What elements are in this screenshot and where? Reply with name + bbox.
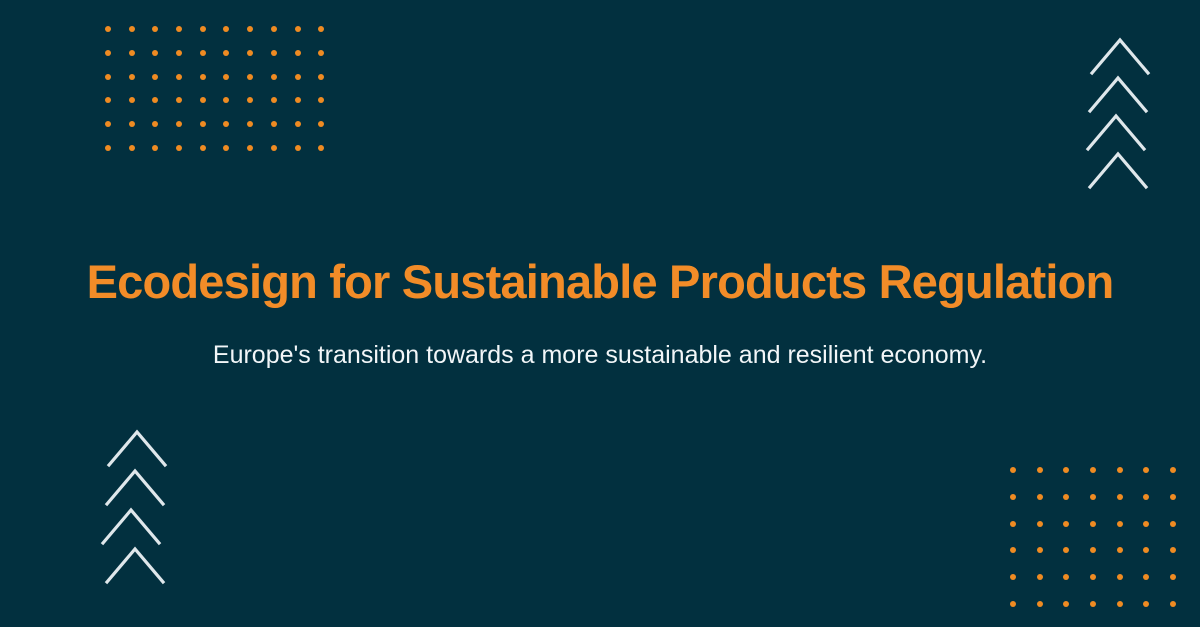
hero-banner: Ecodesign for Sustainable Products Regul… — [0, 0, 1200, 627]
page-subtitle: Europe's transition towards a more susta… — [213, 340, 987, 371]
page-title: Ecodesign for Sustainable Products Regul… — [87, 256, 1114, 308]
hero-text-block: Ecodesign for Sustainable Products Regul… — [0, 0, 1200, 627]
